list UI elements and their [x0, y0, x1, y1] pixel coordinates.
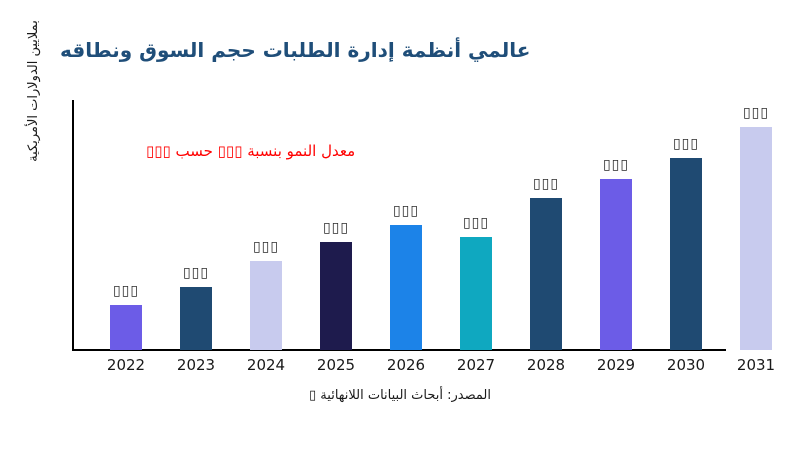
x-tick-label: 2026: [374, 356, 438, 374]
bar-value-label: ▯▯▯: [743, 105, 769, 121]
bar-group[interactable]: ▯▯▯: [740, 100, 772, 350]
bar-group[interactable]: ▯▯▯: [670, 100, 702, 350]
y-axis-title-wrapper: بملايين الدولارات الأمريكية: [20, 0, 46, 186]
bar-group[interactable]: ▯▯▯: [320, 100, 352, 350]
bar-value-label: ▯▯▯: [253, 239, 279, 255]
bar-value-label: ▯▯▯: [393, 203, 419, 219]
x-tick-label: 2024: [234, 356, 298, 374]
x-tick-label: 2027: [444, 356, 508, 374]
y-axis-label: بملايين الدولارات الأمريكية: [26, 20, 41, 162]
x-tick-label: 2028: [514, 356, 578, 374]
page-title: عالمي أنظمة إدارة الطلبات حجم السوق ونطا…: [60, 38, 760, 62]
bar[interactable]: [110, 305, 142, 350]
x-tick-label: 2031: [724, 356, 788, 374]
bar[interactable]: [250, 261, 282, 350]
bar[interactable]: [390, 225, 422, 350]
bar-value-label: ▯▯▯: [113, 283, 139, 299]
bar-value-label: ▯▯▯: [603, 157, 629, 173]
bar-group[interactable]: ▯▯▯: [530, 100, 562, 350]
x-tick-label: 2025: [304, 356, 368, 374]
plot-area: ▯▯▯▯▯▯▯▯▯▯▯▯▯▯▯▯▯▯▯▯▯▯▯▯▯▯▯▯▯▯: [72, 100, 726, 350]
x-tick-label: 2029: [584, 356, 648, 374]
bar[interactable]: [530, 198, 562, 350]
bar-group[interactable]: ▯▯▯: [110, 100, 142, 350]
bar-value-label: ▯▯▯: [533, 176, 559, 192]
bar[interactable]: [180, 287, 212, 350]
bar-group[interactable]: ▯▯▯: [250, 100, 282, 350]
bar[interactable]: [740, 127, 772, 350]
bar-value-label: ▯▯▯: [323, 220, 349, 236]
growth-rate-annotation: معدل النمو بنسبة ▯▯▯ حسب ▯▯▯: [146, 142, 355, 160]
chart-container: عالمي أنظمة إدارة الطلبات حجم السوق ونطا…: [0, 0, 800, 450]
bar[interactable]: [320, 242, 352, 350]
bar-value-label: ▯▯▯: [673, 136, 699, 152]
source-note: المصدر: أبحاث البيانات اللانهائية ▯: [0, 388, 800, 403]
x-tick-label: 2023: [164, 356, 228, 374]
x-tick-label: 2030: [654, 356, 718, 374]
bar-value-label: ▯▯▯: [463, 215, 489, 231]
bar-group[interactable]: ▯▯▯: [600, 100, 632, 350]
bar-group[interactable]: ▯▯▯: [460, 100, 492, 350]
bar-group[interactable]: ▯▯▯: [180, 100, 212, 350]
bar-group[interactable]: ▯▯▯: [390, 100, 422, 350]
bar[interactable]: [600, 179, 632, 350]
bar[interactable]: [460, 237, 492, 350]
bar-value-label: ▯▯▯: [183, 265, 209, 281]
x-tick-label: 2022: [94, 356, 158, 374]
bar[interactable]: [670, 158, 702, 350]
